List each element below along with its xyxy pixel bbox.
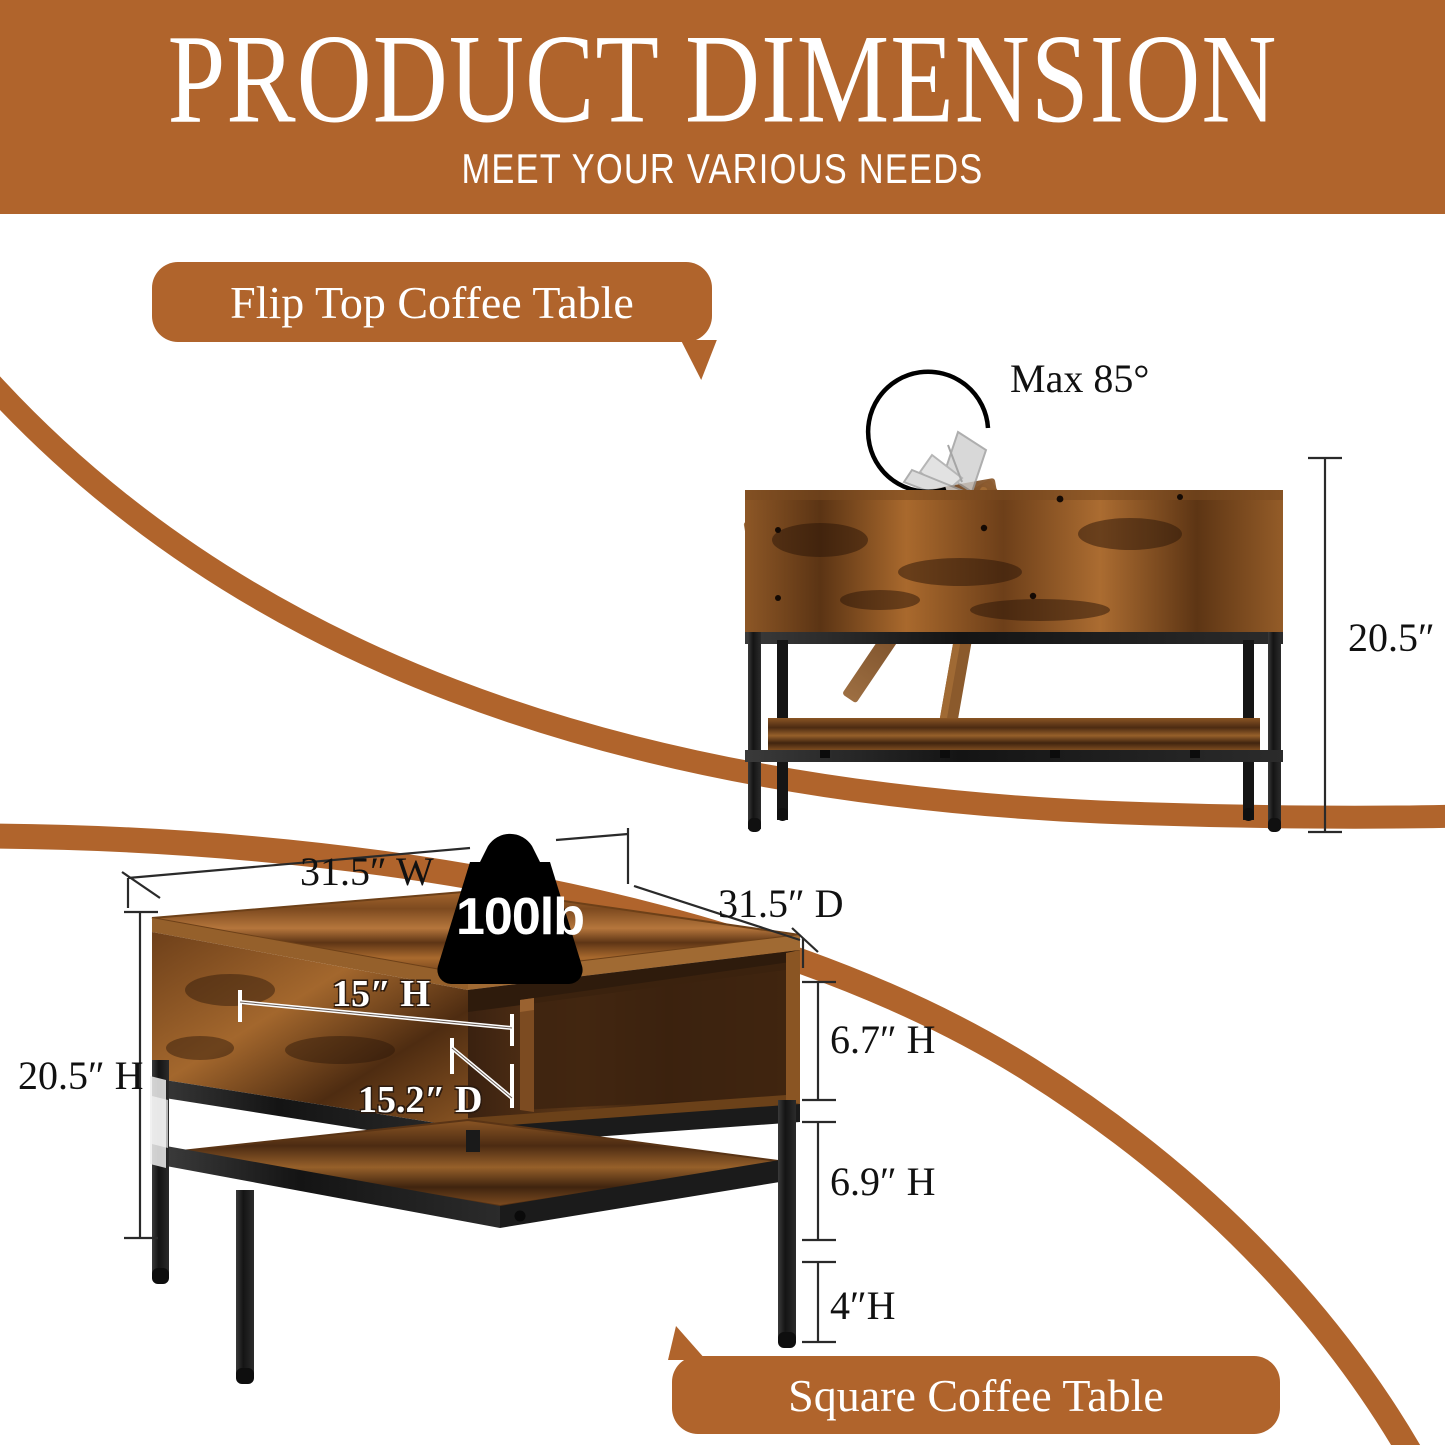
callout-flip-top-label: Flip Top Coffee Table bbox=[230, 276, 634, 329]
weight-capacity-label: 100lb bbox=[420, 887, 620, 947]
callout-square-tail bbox=[668, 1326, 706, 1360]
page-title: PRODUCT DIMENSION bbox=[0, 14, 1445, 146]
callout-square-label: Square Coffee Table bbox=[788, 1369, 1164, 1422]
header-banner: PRODUCT DIMENSION MEET YOUR VARIOUS NEED… bbox=[0, 0, 1445, 214]
cubby-depth-label: 15.2″ D bbox=[358, 1078, 482, 1122]
callout-flip-top-tail bbox=[675, 340, 717, 380]
infographic-canvas: PRODUCT DIMENSION MEET YOUR VARIOUS NEED… bbox=[0, 0, 1445, 1445]
page-subtitle: MEET YOUR VARIOUS NEEDS bbox=[130, 146, 1315, 192]
callout-square[interactable]: Square Coffee Table bbox=[672, 1356, 1280, 1434]
callout-flip-top[interactable]: Flip Top Coffee Table bbox=[152, 262, 712, 342]
cubby-width-label: 15″ H bbox=[332, 972, 430, 1016]
weight-capacity-badge bbox=[0, 0, 1445, 1445]
